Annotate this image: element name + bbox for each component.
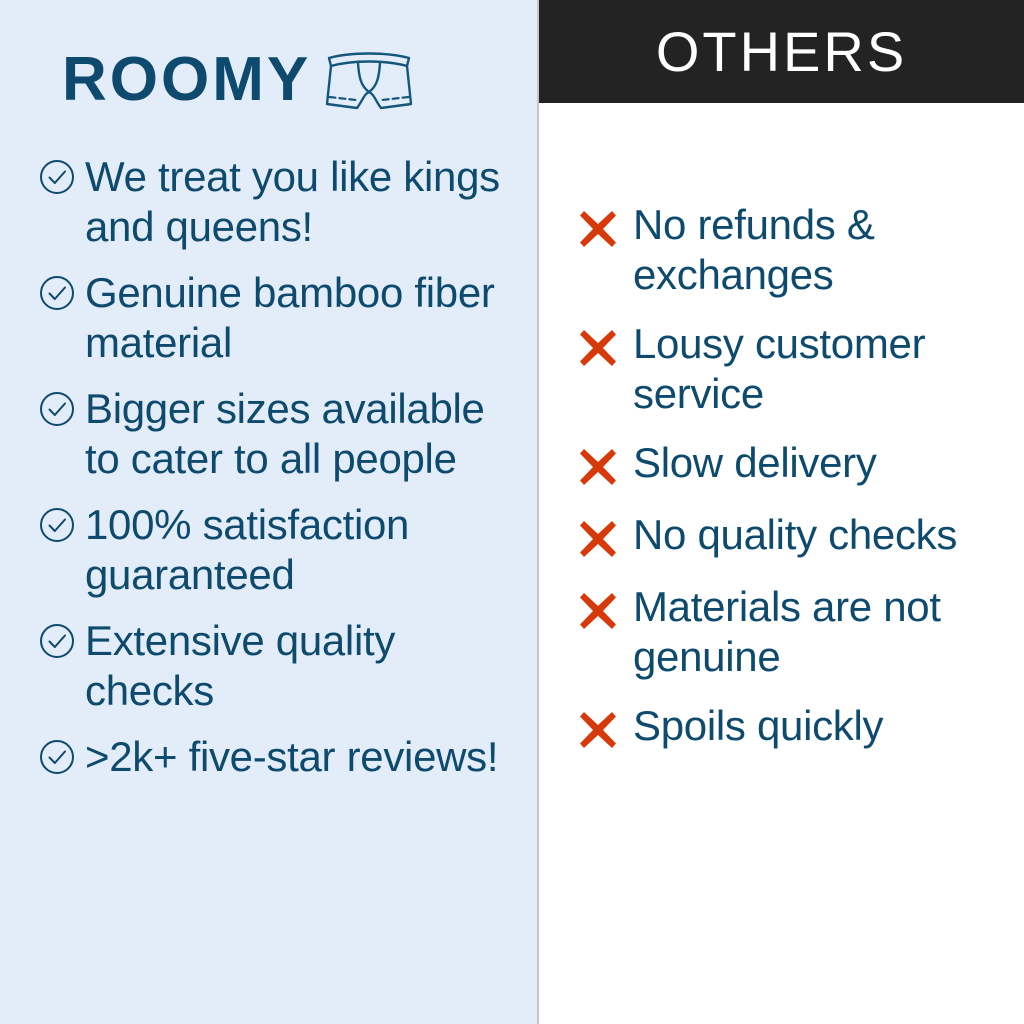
list-item: Lousy customer service xyxy=(575,319,1015,418)
others-header-bar: OTHERS xyxy=(539,0,1024,103)
list-item: Genuine bamboo fiber material xyxy=(38,268,528,367)
cross-mark-icon xyxy=(575,588,621,634)
others-title: OTHERS xyxy=(656,24,907,80)
list-item: No quality checks xyxy=(575,510,1015,562)
list-item: Extensive quality checks xyxy=(38,616,528,715)
list-item-label: Materials are not genuine xyxy=(633,582,1015,681)
list-item: Materials are not genuine xyxy=(575,582,1015,681)
list-item-label: Slow delivery xyxy=(633,438,877,488)
cross-mark-icon xyxy=(575,206,621,252)
list-item: We treat you like kings and queens! xyxy=(38,152,528,251)
list-item-label: No quality checks xyxy=(633,510,957,560)
cross-mark-icon xyxy=(575,707,621,753)
list-item-label: No refunds & exchanges xyxy=(633,200,1015,299)
benefits-list: We treat you like kings and queens! Genu… xyxy=(38,152,528,799)
list-item-label: Lousy customer service xyxy=(633,319,1015,418)
check-circle-icon xyxy=(38,390,76,428)
list-item-label: Genuine bamboo fiber material xyxy=(85,268,528,367)
list-item-label: Bigger sizes available to cater to all p… xyxy=(85,384,528,483)
drawbacks-list: No refunds & exchanges Lousy customer se… xyxy=(575,200,1015,773)
list-item-label: 100% satisfaction guaranteed xyxy=(85,500,528,599)
list-item-label: >2k+ five-star reviews! xyxy=(85,732,498,782)
list-item: Slow delivery xyxy=(575,438,1015,490)
list-item: Bigger sizes available to cater to all p… xyxy=(38,384,528,483)
cross-mark-icon xyxy=(575,444,621,490)
check-circle-icon xyxy=(38,622,76,660)
list-item-label: Spoils quickly xyxy=(633,701,883,751)
brand-wordmark: ROOMY xyxy=(62,49,311,111)
others-panel: OTHERS No refunds & exchanges Lousy cust… xyxy=(537,0,1024,1024)
list-item: No refunds & exchanges xyxy=(575,200,1015,299)
check-circle-icon xyxy=(38,506,76,544)
list-item: 100% satisfaction guaranteed xyxy=(38,500,528,599)
check-circle-icon xyxy=(38,738,76,776)
list-item: >2k+ five-star reviews! xyxy=(38,732,528,782)
check-circle-icon xyxy=(38,274,76,312)
boxer-briefs-icon xyxy=(323,50,415,116)
cross-mark-icon xyxy=(575,516,621,562)
check-circle-icon xyxy=(38,158,76,196)
comparison-infographic: ROOMY We treat you like kin xyxy=(0,0,1024,1024)
list-item: Spoils quickly xyxy=(575,701,1015,753)
cross-mark-icon xyxy=(575,325,621,371)
list-item-label: Extensive quality checks xyxy=(85,616,528,715)
brand-panel: ROOMY We treat you like kin xyxy=(0,0,537,1024)
brand-header: ROOMY xyxy=(62,44,415,116)
list-item-label: We treat you like kings and queens! xyxy=(85,152,528,251)
